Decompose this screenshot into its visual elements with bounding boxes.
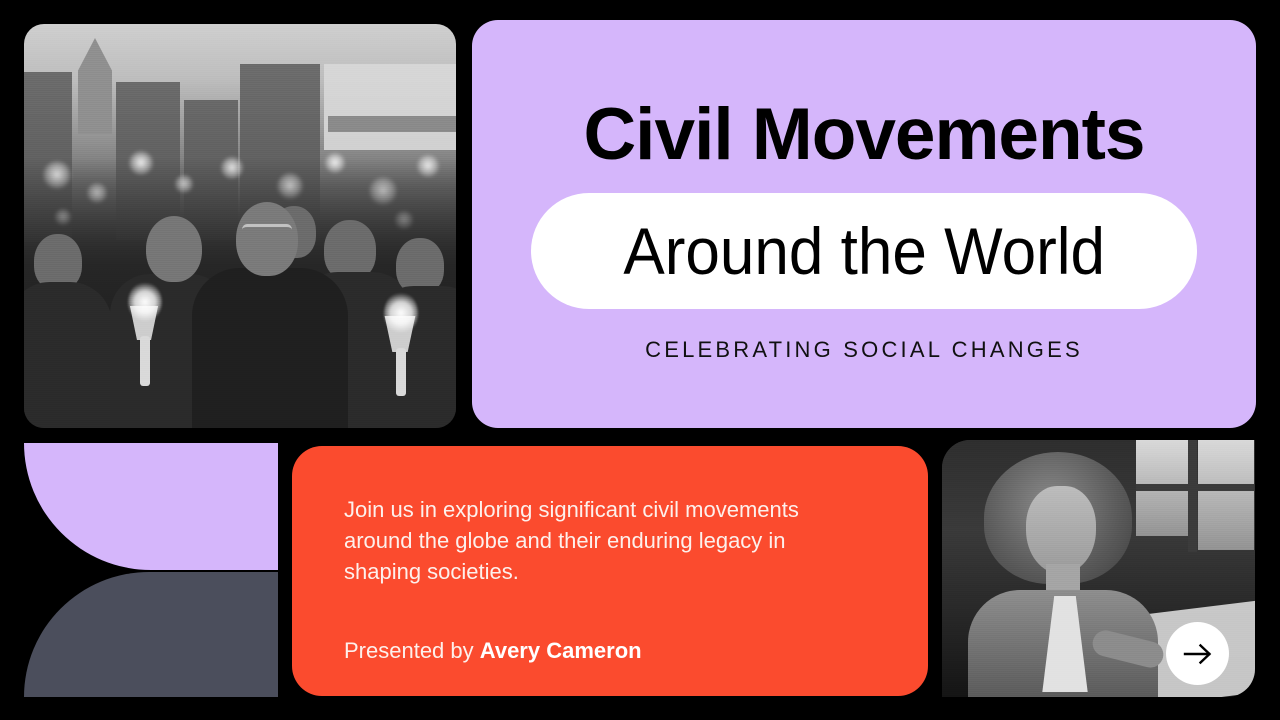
- slide-title: Civil Movements: [583, 98, 1144, 171]
- slide-subtitle-highlight: Around the World: [623, 218, 1105, 284]
- next-slide-button[interactable]: [1166, 622, 1229, 685]
- description-text: Join us in exploring significant civil m…: [344, 494, 814, 587]
- presentation-slide: Civil Movements Around the World CELEBRA…: [0, 0, 1280, 720]
- slide-tagline: CELEBRATING SOCIAL CHANGES: [645, 337, 1083, 363]
- left-photo: [24, 24, 456, 428]
- presenter-line: Presented by Avery Cameron: [344, 638, 642, 664]
- decorative-purple-shape: [24, 443, 278, 570]
- arrow-right-icon: [1183, 643, 1213, 665]
- presenter-name: Avery Cameron: [480, 638, 642, 663]
- subtitle-pill: Around the World: [531, 193, 1197, 309]
- photo-grain-overlay: [24, 24, 456, 428]
- presented-by-label: Presented by: [344, 638, 474, 663]
- decorative-gray-shape: [24, 572, 278, 697]
- description-card: Join us in exploring significant civil m…: [292, 446, 928, 696]
- hero-card: Civil Movements Around the World CELEBRA…: [472, 20, 1256, 428]
